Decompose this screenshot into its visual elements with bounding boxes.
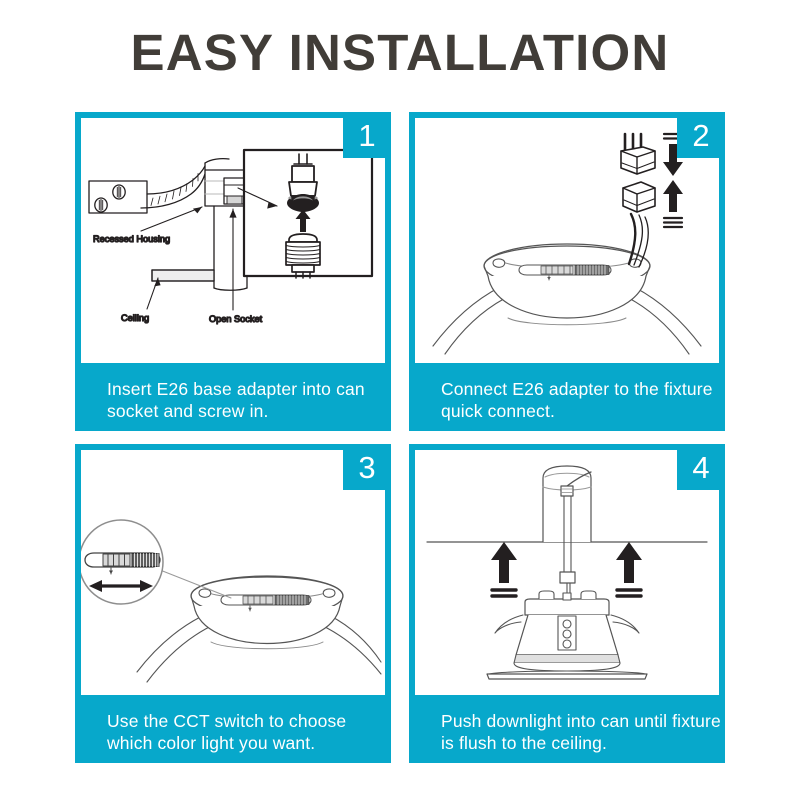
- step-figure-2: 2: [409, 112, 725, 369]
- ceiling-slab: [152, 270, 214, 281]
- step-card-2: 2: [409, 112, 725, 425]
- downlight-fixture-body: [191, 576, 343, 649]
- step-card-1: 1: [75, 112, 391, 425]
- e26-adapter-plug: [621, 134, 655, 174]
- push-up-arrow-right-icon: [616, 542, 642, 596]
- step-number-badge-1: 1: [343, 112, 391, 158]
- step-caption-1: Insert E26 base adapter into can socket …: [75, 369, 391, 431]
- step-caption-3: Use the CCT switch to choose which color…: [75, 701, 391, 763]
- junction-box-icon: [89, 181, 147, 213]
- page-title: EASY INSTALLATION: [0, 0, 800, 104]
- step-figure-3: 3: [75, 444, 391, 701]
- cct-switch-diagram: [81, 450, 385, 695]
- flex-conduit: [141, 166, 205, 208]
- downlight-fixture: [487, 591, 647, 679]
- push-into-can-diagram: [415, 450, 719, 695]
- step-caption-4: Push downlight into can until fixture is…: [409, 701, 725, 763]
- step-card-3: 3: [75, 444, 391, 757]
- label-recessed-housing: Recessed Housing: [93, 234, 170, 244]
- leader-ceiling: [147, 278, 161, 309]
- label-open-socket: Open Socket: [209, 314, 263, 324]
- step-caption-2: Connect E26 adapter to the fixture quick…: [409, 369, 725, 431]
- step-card-4: 4: [409, 444, 725, 757]
- recessed-housing-diagram: Recessed Housing Ceiling Open Socket: [81, 118, 385, 363]
- fixture-quick-connect-plug: [623, 182, 655, 212]
- step-number-badge-3: 3: [343, 444, 391, 490]
- downlight-fixture-body: [484, 244, 650, 325]
- leader-recessed-housing: [141, 207, 202, 231]
- leader-open-socket: [229, 209, 236, 310]
- step-figure-4: 4: [409, 444, 725, 701]
- step-number-badge-2: 2: [677, 112, 725, 158]
- step-figure-1: 1: [75, 112, 391, 369]
- recessed-can: [543, 466, 591, 542]
- steps-grid: 1: [75, 112, 725, 757]
- push-up-arrow-left-icon: [491, 542, 517, 596]
- step-number-badge-4: 4: [677, 444, 725, 490]
- label-ceiling: Ceiling: [121, 313, 149, 323]
- insert-up-arrow-icon: [663, 180, 683, 227]
- open-socket-part: [224, 178, 245, 204]
- quick-connect-diagram: [415, 118, 719, 363]
